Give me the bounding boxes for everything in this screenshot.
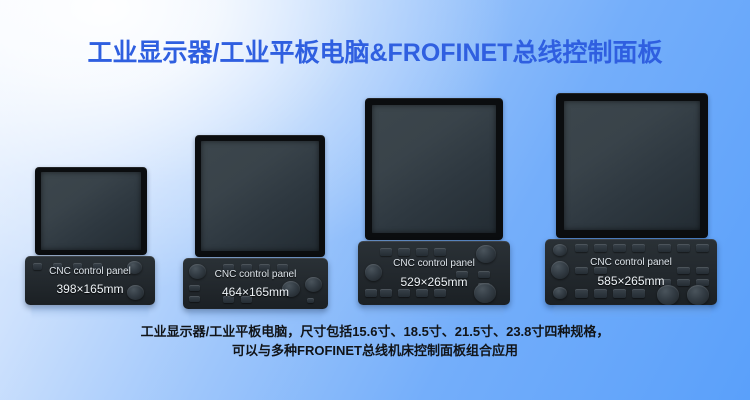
panel-button[interactable]	[696, 244, 709, 252]
display-screen-4	[556, 93, 708, 238]
panel-knob[interactable]	[657, 285, 679, 305]
panel-button[interactable]	[223, 264, 234, 271]
panel-button[interactable]	[696, 267, 709, 274]
panel-button[interactable]	[241, 296, 252, 303]
panel-button[interactable]	[434, 289, 446, 297]
panel-button[interactable]	[380, 248, 392, 256]
caption-line-1: 工业显示器/工业平板电脑，尺寸包括15.6寸、18.5寸、21.5寸、23.8寸…	[0, 322, 750, 341]
panel-button[interactable]	[677, 267, 690, 274]
panel-button[interactable]	[223, 296, 234, 303]
panel-knob[interactable]	[474, 283, 496, 303]
panel-size-4: 585×265mm	[597, 274, 664, 288]
panel-label-4: CNC control panel	[590, 257, 672, 268]
control-panel-3[interactable]: CNC control panel 529×265mm	[358, 241, 510, 305]
device-card-1[interactable]: CNC control panel 398×165mm	[25, 105, 155, 305]
panel-knob[interactable]	[551, 261, 569, 279]
control-panel-1[interactable]: CNC control panel 398×165mm	[25, 256, 155, 305]
panel-button[interactable]	[307, 298, 314, 303]
panel-button[interactable]	[416, 248, 428, 256]
panel-button[interactable]	[594, 267, 607, 274]
panel-knob[interactable]	[365, 264, 382, 281]
device-card-4[interactable]: CNC control panel 585×265mm	[545, 93, 717, 305]
device-reflection-3	[364, 306, 504, 319]
panel-button[interactable]	[594, 289, 607, 298]
caption-block: 工业显示器/工业平板电脑，尺寸包括15.6寸、18.5寸、21.5寸、23.8寸…	[0, 322, 750, 360]
device-reflection-4	[553, 306, 711, 319]
panel-knob[interactable]	[127, 285, 144, 300]
panel-button[interactable]	[478, 271, 490, 278]
panel-button[interactable]	[677, 279, 690, 286]
panel-button[interactable]	[189, 285, 200, 291]
panel-button[interactable]	[575, 267, 588, 274]
screen-glass-2	[201, 141, 319, 251]
control-panel-2[interactable]: CNC control panel 464×165mm	[183, 258, 328, 309]
panel-button[interactable]	[380, 289, 392, 297]
panel-knob[interactable]	[282, 281, 300, 297]
panel-button[interactable]	[575, 289, 588, 298]
device-reflection-1	[31, 306, 149, 319]
screen-glass-1	[41, 172, 141, 250]
panel-knob[interactable]	[127, 261, 142, 274]
panel-button[interactable]	[434, 248, 446, 256]
panel-button[interactable]	[277, 264, 288, 271]
screen-glass-4	[564, 101, 700, 230]
screen-glass-3	[372, 105, 496, 233]
panel-button[interactable]	[73, 263, 82, 270]
poster-canvas: 工业显示器/工业平板电脑&FROFINET总线控制面板 CNC control …	[0, 0, 750, 400]
display-screen-3	[365, 98, 503, 240]
panel-button[interactable]	[189, 296, 200, 302]
panel-button[interactable]	[33, 263, 42, 270]
panel-knob[interactable]	[553, 244, 567, 256]
panel-size-1: 398×165mm	[56, 282, 123, 296]
page-title: 工业显示器/工业平板电脑&FROFINET总线控制面板	[0, 33, 750, 69]
panel-knob[interactable]	[189, 264, 206, 279]
panel-knob[interactable]	[476, 245, 496, 263]
panel-button[interactable]	[575, 244, 588, 252]
panel-button[interactable]	[259, 264, 270, 271]
panel-button[interactable]	[613, 289, 626, 298]
panel-button[interactable]	[613, 244, 626, 252]
panel-button[interactable]	[456, 271, 468, 278]
panel-knob[interactable]	[305, 277, 322, 292]
panel-button[interactable]	[658, 244, 671, 252]
display-screen-2	[195, 135, 325, 257]
panel-knob[interactable]	[553, 287, 567, 299]
panel-button[interactable]	[241, 264, 252, 271]
panel-button[interactable]	[677, 244, 690, 252]
control-panel-4[interactable]: CNC control panel 585×265mm	[545, 239, 717, 305]
panel-button[interactable]	[53, 263, 62, 270]
device-card-2[interactable]: CNC control panel 464×165mm	[183, 105, 328, 305]
panel-button[interactable]	[416, 289, 428, 297]
device-card-3[interactable]: CNC control panel 529×265mm	[358, 98, 510, 305]
panel-button[interactable]	[365, 289, 377, 297]
panel-button[interactable]	[93, 263, 102, 270]
panel-label-3: CNC control panel	[393, 258, 475, 269]
device-lineup: CNC control panel 398×165mm	[0, 90, 750, 305]
panel-button[interactable]	[632, 244, 645, 252]
caption-line-2: 可以与多种FROFINET总线机床控制面板组合应用	[0, 341, 750, 360]
panel-button[interactable]	[398, 289, 410, 297]
panel-button[interactable]	[594, 244, 607, 252]
panel-knob[interactable]	[687, 285, 709, 305]
display-screen-1	[35, 167, 147, 255]
panel-button[interactable]	[398, 248, 410, 256]
panel-button[interactable]	[632, 289, 645, 298]
